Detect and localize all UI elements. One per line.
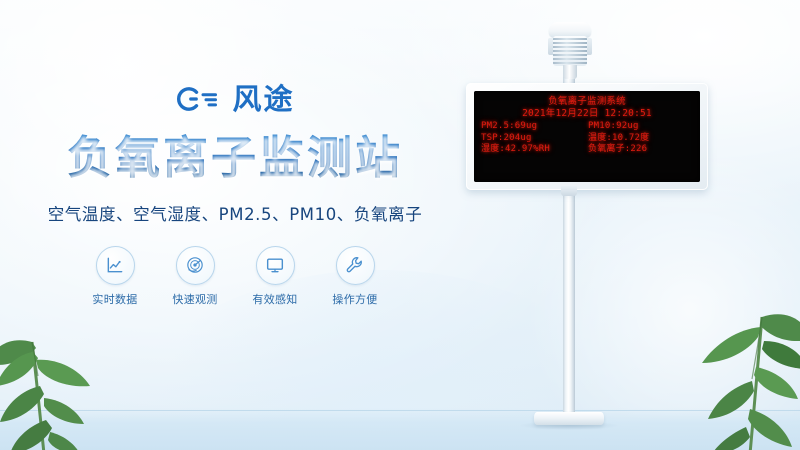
sensor-neck (563, 65, 577, 79)
sensor-cap (549, 22, 591, 37)
monitor-icon (265, 255, 285, 275)
sensor-bracket-right (586, 38, 592, 55)
pole-upper-segment (566, 44, 572, 70)
led-reading-negative-ion: 负氧离子:226 (588, 144, 693, 156)
panel-pole-mount (561, 186, 577, 196)
feature-label: 快速观测 (167, 291, 223, 307)
page-title: 负氧离子监测站 (0, 134, 470, 183)
led-reading-tsp: TSP:204ug (481, 133, 586, 145)
brand-name: 风途 (232, 85, 294, 114)
product-banner: 负氧离子监测系统 2021年12月22日 12:20:51 PM2.5:69ug… (0, 0, 800, 450)
feature-icon-wrap (336, 246, 375, 285)
led-display-panel: 负氧离子监测系统 2021年12月22日 12:20:51 PM2.5:69ug… (466, 83, 708, 190)
background-glow-right (520, 150, 800, 450)
radiation-shield-sensor-icon (541, 22, 599, 78)
marketing-copy-block: 风途 负氧离子监测站 空气温度、空气湿度、PM2.5、PM10、负氧离子 实时数… (0, 78, 470, 307)
feature-item-easy-operation: 操作方便 (327, 246, 383, 307)
line-chart-icon (105, 255, 125, 275)
feature-label: 操作方便 (327, 291, 383, 307)
fengtu-g-icon (175, 84, 223, 114)
led-title: 负氧离子监测系统 (481, 96, 693, 108)
feature-item-fast-observation: 快速观测 (167, 246, 223, 307)
led-reading-pm25: PM2.5:69ug (481, 121, 586, 133)
led-reading-pm10: PM10:92ug (588, 121, 693, 133)
feature-item-effective-sensing: 有效感知 (247, 246, 303, 307)
feature-label: 实时数据 (87, 291, 143, 307)
brand-logo: 风途 (0, 78, 470, 120)
wrench-icon (345, 255, 365, 275)
horizon-line (0, 410, 800, 411)
station-pole (563, 60, 575, 418)
led-reading-humidity: 湿度:42.97%RH (481, 144, 586, 156)
feature-label: 有效感知 (247, 291, 303, 307)
sensor-bracket-left (548, 38, 554, 55)
radar-scan-icon (185, 255, 205, 275)
sensor-louver-stack (553, 36, 587, 66)
feature-list: 实时数据 快速观测 (0, 246, 470, 307)
feature-item-realtime-data: 实时数据 (87, 246, 143, 307)
ground-band (0, 408, 800, 450)
led-readings-grid: PM2.5:69ug PM10:92ug TSP:204ug 温度:10.72度… (481, 121, 693, 156)
led-datetime: 2021年12月22日 12:20:51 (481, 108, 693, 120)
feature-icon-wrap (176, 246, 215, 285)
feature-icon-wrap (96, 246, 135, 285)
page-subtitle: 空气温度、空气湿度、PM2.5、PM10、负氧离子 (0, 201, 470, 225)
led-reading-temperature: 温度:10.72度 (588, 133, 693, 145)
led-screen: 负氧离子监测系统 2021年12月22日 12:20:51 PM2.5:69ug… (474, 91, 700, 182)
feature-icon-wrap (256, 246, 295, 285)
